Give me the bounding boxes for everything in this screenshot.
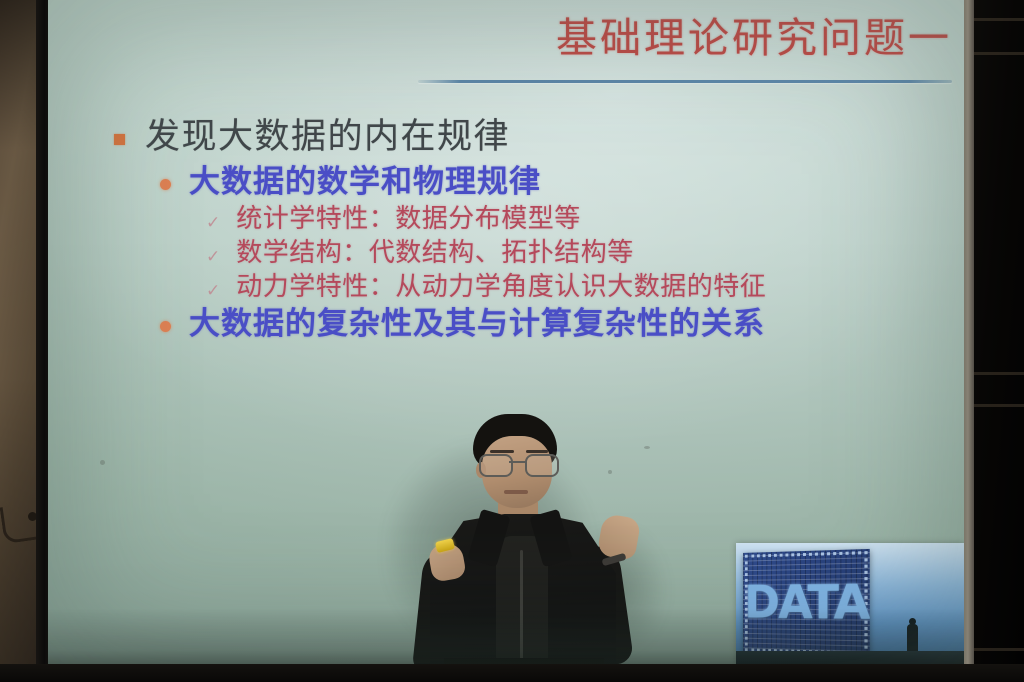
bullet-list: 发现大数据的内在规律 大数据的数学和物理规律 ✓ 统计学特性：数据分布模型等 ✓…: [48, 116, 964, 346]
screen-speck: [644, 446, 650, 449]
wall-hook-icon: [0, 503, 37, 544]
glasses-icon: [477, 454, 559, 473]
bullet-item-level2: 大数据的复杂性及其与计算复杂性的关系: [160, 305, 964, 343]
slide-title: 基础理论研究问题一: [556, 16, 952, 61]
square-bullet-icon: [114, 134, 125, 145]
bullet-item-level3: ✓ 数学结构：代数结构、拓扑结构等: [206, 237, 964, 270]
bullet-text: 大数据的复杂性及其与计算复杂性的关系: [189, 305, 765, 343]
bullet-text: 数学结构：代数结构、拓扑结构等: [236, 237, 634, 270]
round-bullet-icon: [160, 321, 171, 332]
bullet-text: 动力学特性：从动力学角度认识大数据的特征: [236, 271, 766, 304]
bullet-item-level2: 大数据的数学和物理规律: [160, 163, 964, 201]
checkmark-bullet-icon: ✓: [206, 215, 220, 232]
title-underline: [418, 80, 952, 83]
floor-band: [0, 664, 1024, 682]
presenter-mouth: [504, 490, 528, 494]
presenter-eyebrow-left: [490, 450, 514, 453]
bullet-item-level3: ✓ 动力学特性：从动力学角度认识大数据的特征: [206, 271, 964, 304]
right-dark-area: [972, 0, 1024, 682]
screen-speck: [100, 460, 105, 465]
presenter-eyebrow-right: [526, 450, 548, 453]
checkmark-bullet-icon: ✓: [206, 283, 220, 300]
bullet-text: 发现大数据的内在规律: [145, 116, 510, 159]
projection-screen: 基础理论研究问题一 发现大数据的内在规律 大数据的数学和物理规律 ✓ 统计学特性…: [48, 0, 964, 668]
bullet-text: 大数据的数学和物理规律: [189, 163, 541, 201]
round-bullet-icon: [160, 179, 171, 190]
screen-speck: [608, 470, 612, 474]
photo-stage: 基础理论研究问题一 发现大数据的内在规律 大数据的数学和物理规律 ✓ 统计学特性…: [0, 0, 1024, 682]
screen-bottom-shading: [48, 608, 964, 668]
screen-frame-right: [963, 0, 974, 682]
checkmark-bullet-icon: ✓: [206, 249, 220, 266]
bullet-item-level3: ✓ 统计学特性：数据分布模型等: [206, 203, 964, 236]
bullet-text: 统计学特性：数据分布模型等: [236, 203, 581, 236]
bullet-item-level1: 发现大数据的内在规律: [114, 116, 964, 159]
